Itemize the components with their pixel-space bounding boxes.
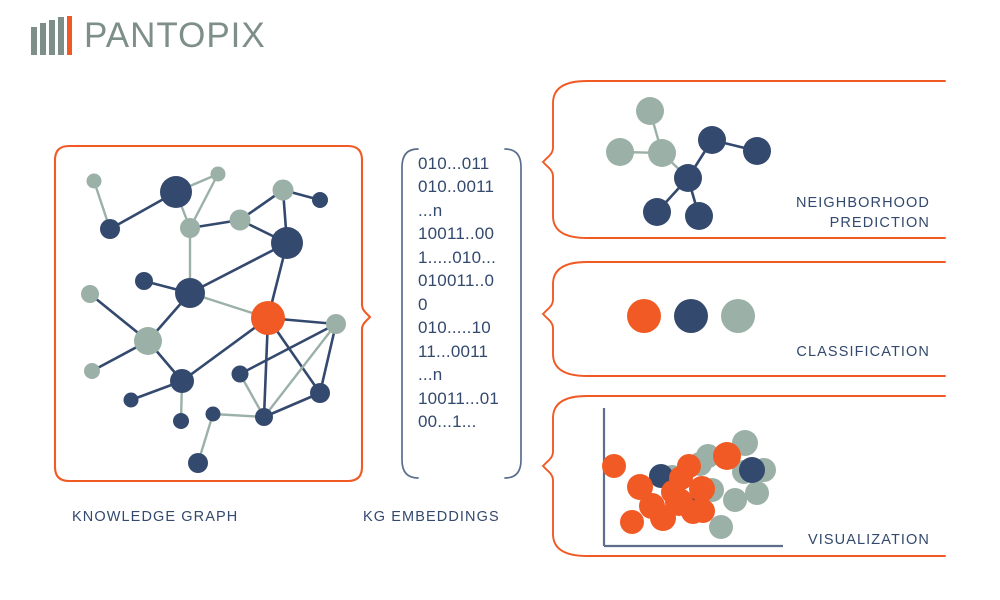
- np-node: [636, 97, 664, 125]
- embedding-line: 010011..0: [418, 269, 510, 292]
- kg-node: [134, 327, 162, 355]
- embedding-line: 1.....010...: [418, 246, 510, 269]
- label-visualization: VISUALIZATION: [808, 531, 930, 551]
- kg-node: [170, 369, 194, 393]
- kg-node: [310, 383, 330, 403]
- scatter-point: [602, 454, 626, 478]
- kg-edge: [190, 243, 287, 293]
- embedding-line: ...n: [418, 199, 510, 222]
- np-edges: [620, 111, 757, 216]
- kg-node: [232, 366, 249, 383]
- classification-dot: [721, 299, 755, 333]
- scatter-points: [602, 430, 776, 539]
- classification-dot: [674, 299, 708, 333]
- scatter-point: [689, 476, 715, 502]
- embedding-line: 10011...01: [418, 387, 510, 410]
- np-node: [698, 126, 726, 154]
- kg-node: [81, 285, 99, 303]
- embedding-line: 010..0011: [418, 175, 510, 198]
- scatter-point: [723, 488, 747, 512]
- scatter-point: [677, 454, 701, 478]
- label-neighborhood-prediction: NEIGHBORHOOD PREDICTION: [796, 194, 930, 233]
- label-neighborhood-line1: NEIGHBORHOOD: [796, 194, 930, 214]
- diagram-canvas: PANTOPIX 010...01101: [0, 0, 1000, 600]
- kg-node: [326, 314, 346, 334]
- np-node: [606, 138, 634, 166]
- embedding-line: ...n: [418, 363, 510, 386]
- kg-node: [251, 301, 285, 335]
- np-node: [674, 164, 702, 192]
- kg-node: [230, 210, 251, 231]
- kg-node: [255, 408, 273, 426]
- scatter-point: [745, 481, 769, 505]
- kg-node: [160, 176, 192, 208]
- kg-node: [180, 218, 200, 238]
- kg-edge: [240, 324, 336, 374]
- classification-dots: [627, 299, 755, 333]
- np-node: [743, 137, 771, 165]
- scatter-point: [713, 442, 741, 470]
- label-classification: CLASSIFICATION: [796, 343, 930, 363]
- scatter-point: [620, 510, 644, 534]
- kg-node: [211, 167, 226, 182]
- embedding-line: 010.....10: [418, 316, 510, 339]
- scatter-point: [691, 499, 715, 523]
- np-node: [643, 198, 671, 226]
- embeddings-bracket-left: [402, 149, 418, 478]
- caption-knowledge-graph: KNOWLEDGE GRAPH: [72, 509, 238, 525]
- embedding-line: 0: [418, 293, 510, 316]
- kg-node: [273, 180, 294, 201]
- classification-dot: [627, 299, 661, 333]
- kg-node: [84, 363, 100, 379]
- embedding-line: 00...1...: [418, 410, 510, 433]
- embedding-line: 10011..00: [418, 222, 510, 245]
- scatter-point: [739, 457, 765, 483]
- kg-node: [87, 174, 102, 189]
- kg-node: [206, 407, 221, 422]
- embedding-line: 010...011: [418, 152, 510, 175]
- kg-node: [188, 453, 208, 473]
- caption-kg-embeddings: KG EMBEDDINGS: [363, 509, 500, 525]
- kg-node: [271, 227, 303, 259]
- kg-node: [173, 413, 189, 429]
- kg-node: [135, 272, 153, 290]
- kg-node: [100, 219, 120, 239]
- label-neighborhood-line2: PREDICTION: [796, 214, 930, 234]
- np-node: [648, 139, 676, 167]
- np-nodes: [606, 97, 771, 230]
- kg-node: [175, 278, 205, 308]
- np-node: [685, 202, 713, 230]
- scatter-point: [661, 480, 685, 504]
- kg-node: [312, 192, 328, 208]
- embedding-line: 11...0011: [418, 340, 510, 363]
- kg-node: [124, 393, 139, 408]
- kg-embeddings-text: 010...011010..0011...n10011..001.....010…: [418, 152, 510, 433]
- scatter-point: [709, 515, 733, 539]
